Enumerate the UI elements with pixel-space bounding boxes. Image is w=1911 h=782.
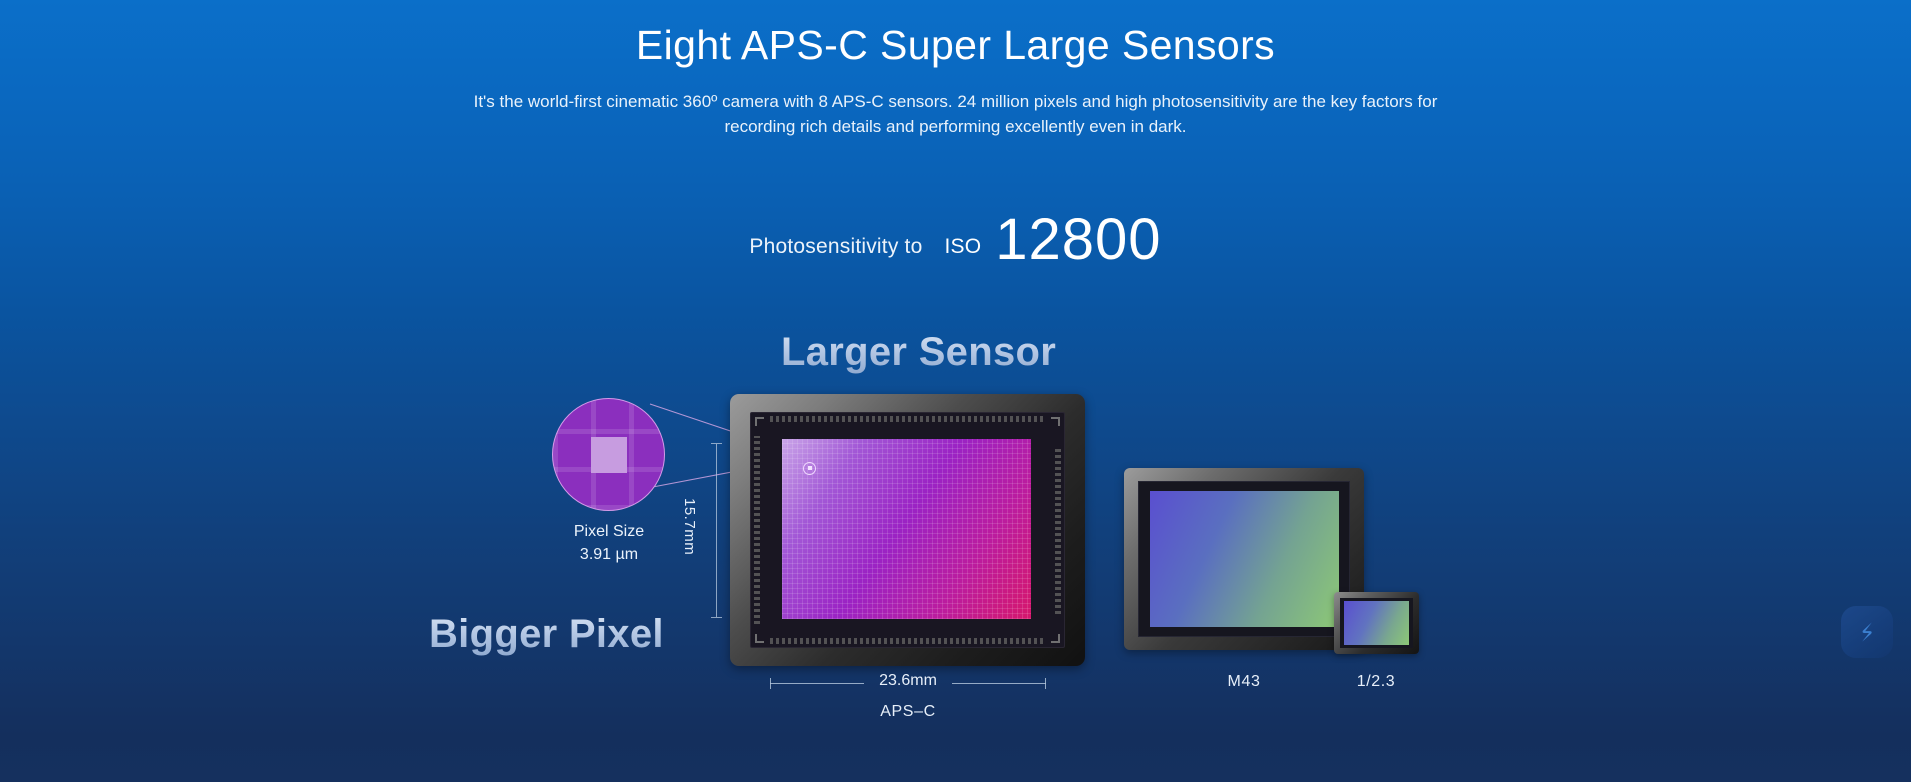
bond-pad-col-left [754,436,760,623]
page-root: Eight APS-C Super Large Sensors It's the… [0,0,1911,782]
bond-pad-col-right [1055,446,1061,614]
magnifier-target-marker [803,462,816,475]
width-dimension-label: 23.6mm [770,672,1046,690]
sensor-apsc-substrate [750,412,1065,648]
sensor-m43 [1124,468,1364,650]
sensor-label-m43: M43 [1174,673,1314,691]
lightning-s-icon [1854,619,1880,645]
sensor-apsc [730,394,1085,666]
magnified-pixel-square [591,437,627,473]
alignment-mark-tr [1051,417,1060,426]
bond-pad-row-bottom [770,638,1045,644]
sensor-m43-substrate [1138,481,1350,637]
bond-pad-row-top [770,416,1045,422]
sensor-123-pixel-array [1344,601,1410,645]
width-dimension-line: 23.6mm [770,683,1046,684]
sensor-apsc-pixel-array [782,439,1031,619]
sensor-123-substrate [1340,598,1413,648]
corner-badge[interactable] [1841,606,1893,658]
sensor-m43-pixel-array [1150,491,1339,627]
sensor-label-apsc: APS–C [770,703,1046,721]
height-dimension-line [716,443,717,618]
sensor-label-123: 1/2.3 [1311,673,1441,691]
sensor-one-over-two-point-three [1334,592,1419,654]
alignment-mark-bl [755,634,764,643]
alignment-mark-br [1051,634,1060,643]
pixel-magnifier-circle [552,398,665,511]
height-dimension-label: 15.7mm [681,498,698,555]
sensor-comparison-stage: Pixel Size 3.91 µm 15.7mm 23.6mm APS–C M… [0,0,1911,782]
alignment-mark-tl [755,417,764,426]
